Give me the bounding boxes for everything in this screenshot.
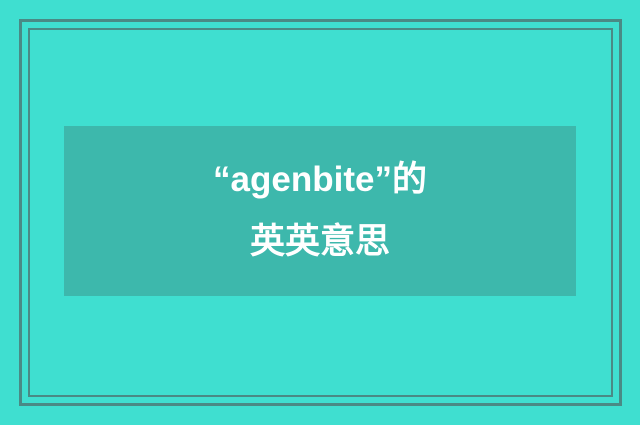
poster-canvas: “agenbite”的英英意思 bbox=[0, 0, 640, 425]
page-title: “agenbite”的英英意思 bbox=[205, 149, 435, 273]
title-panel: “agenbite”的英英意思 bbox=[64, 126, 576, 296]
